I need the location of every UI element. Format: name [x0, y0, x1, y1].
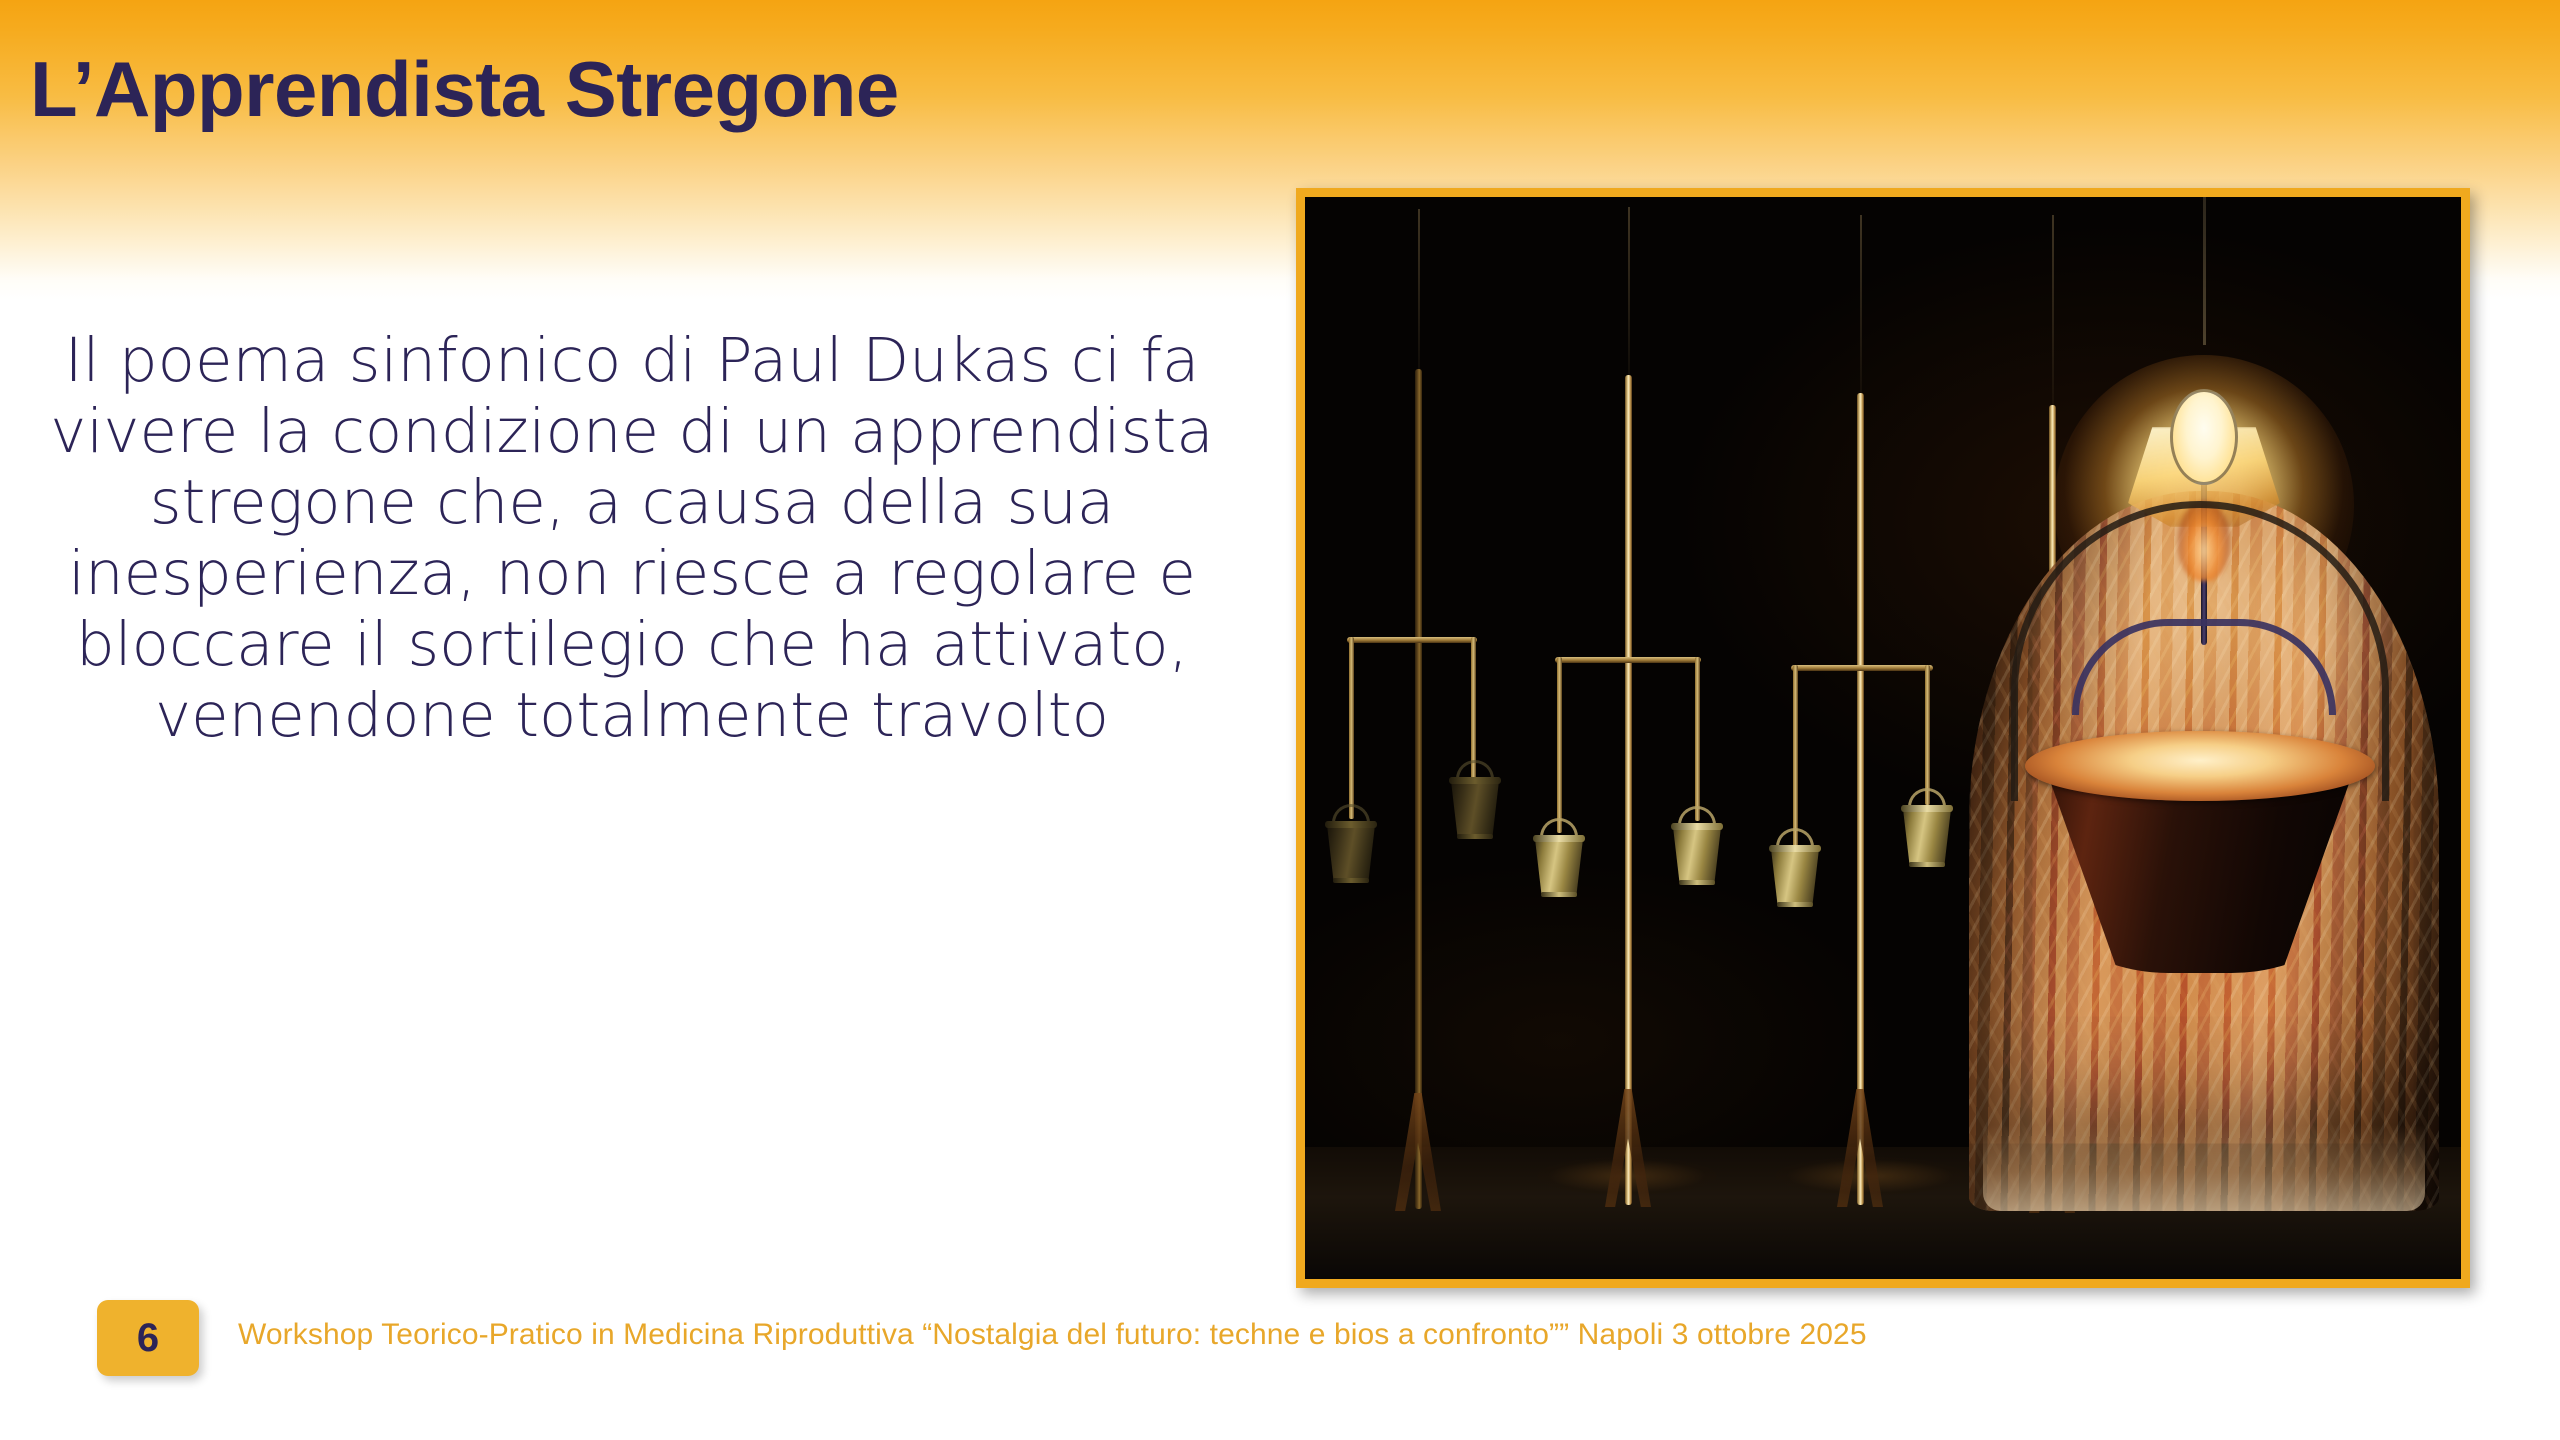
- broom-with-buckets: [1383, 369, 1453, 1209]
- bucket-rim: [1533, 835, 1585, 842]
- body-paragraph: Il poema sinfonico di Paul Dukas ci fa v…: [42, 325, 1222, 751]
- broom-with-buckets: [1593, 375, 1663, 1205]
- suspension-wire: [1418, 209, 1420, 379]
- broom-with-buckets: [1825, 393, 1895, 1205]
- bucket-base: [1541, 892, 1577, 897]
- robed-figure: [1969, 331, 2439, 1211]
- slide-canvas: L’Apprendista Stregone Il poema sinfonic…: [0, 0, 2560, 1440]
- bucket-rim: [1325, 821, 1377, 828]
- footer-caption: Workshop Teorico-Pratico in Medicina Rip…: [238, 1318, 2338, 1352]
- bucket-base: [1457, 834, 1493, 839]
- broom-crossarm: [1791, 665, 1933, 671]
- photo-frame: [1296, 188, 2470, 1288]
- bucket-body: [1325, 821, 1377, 879]
- crossarm-drop: [1925, 665, 1930, 805]
- bucket-body: [1449, 777, 1501, 835]
- cauldron: [2025, 731, 2375, 1001]
- suspension-wire: [1860, 215, 1862, 401]
- bucket-base: [1909, 862, 1945, 867]
- bucket-base: [1333, 878, 1369, 883]
- crossarm-drop: [1557, 657, 1562, 833]
- bucket-rim: [1449, 777, 1501, 784]
- crossarm-drop: [1793, 665, 1798, 847]
- bucket: [1533, 835, 1585, 897]
- lamp-bulb-icon: [2170, 389, 2238, 485]
- cauldron-rim: [2025, 731, 2375, 801]
- bucket: [1325, 821, 1377, 883]
- stage-photograph: [1305, 197, 2461, 1279]
- bucket: [1769, 845, 1821, 907]
- crossarm-drop: [1695, 657, 1700, 821]
- bucket-body: [1533, 835, 1585, 893]
- bucket: [1671, 823, 1723, 885]
- broom-pole: [1625, 375, 1632, 1205]
- bucket: [1449, 777, 1501, 839]
- broom-pole: [1415, 369, 1422, 1209]
- bucket-rim: [1769, 845, 1821, 852]
- bucket: [1901, 805, 1953, 867]
- lamp-suspension-cord: [2203, 197, 2206, 345]
- robe-hem: [1983, 1125, 2425, 1211]
- bucket-body: [1769, 845, 1821, 903]
- page-title: L’Apprendista Stregone: [30, 48, 1270, 131]
- bucket-base: [1679, 880, 1715, 885]
- broom-crossarm: [1555, 657, 1701, 663]
- bucket-body: [1671, 823, 1723, 881]
- broom-crossarm: [1347, 637, 1477, 643]
- crossarm-drop: [1349, 637, 1354, 819]
- broom-pole: [1857, 393, 1864, 1205]
- bucket-rim: [1901, 805, 1953, 812]
- bucket-body: [1901, 805, 1953, 863]
- bucket-base: [1777, 902, 1813, 907]
- bucket-rim: [1671, 823, 1723, 830]
- page-number-label: 6: [137, 1318, 159, 1358]
- stage-backdrop: [1305, 197, 2461, 1279]
- page-number-badge: 6: [97, 1300, 199, 1376]
- suspension-wire: [1628, 207, 1630, 385]
